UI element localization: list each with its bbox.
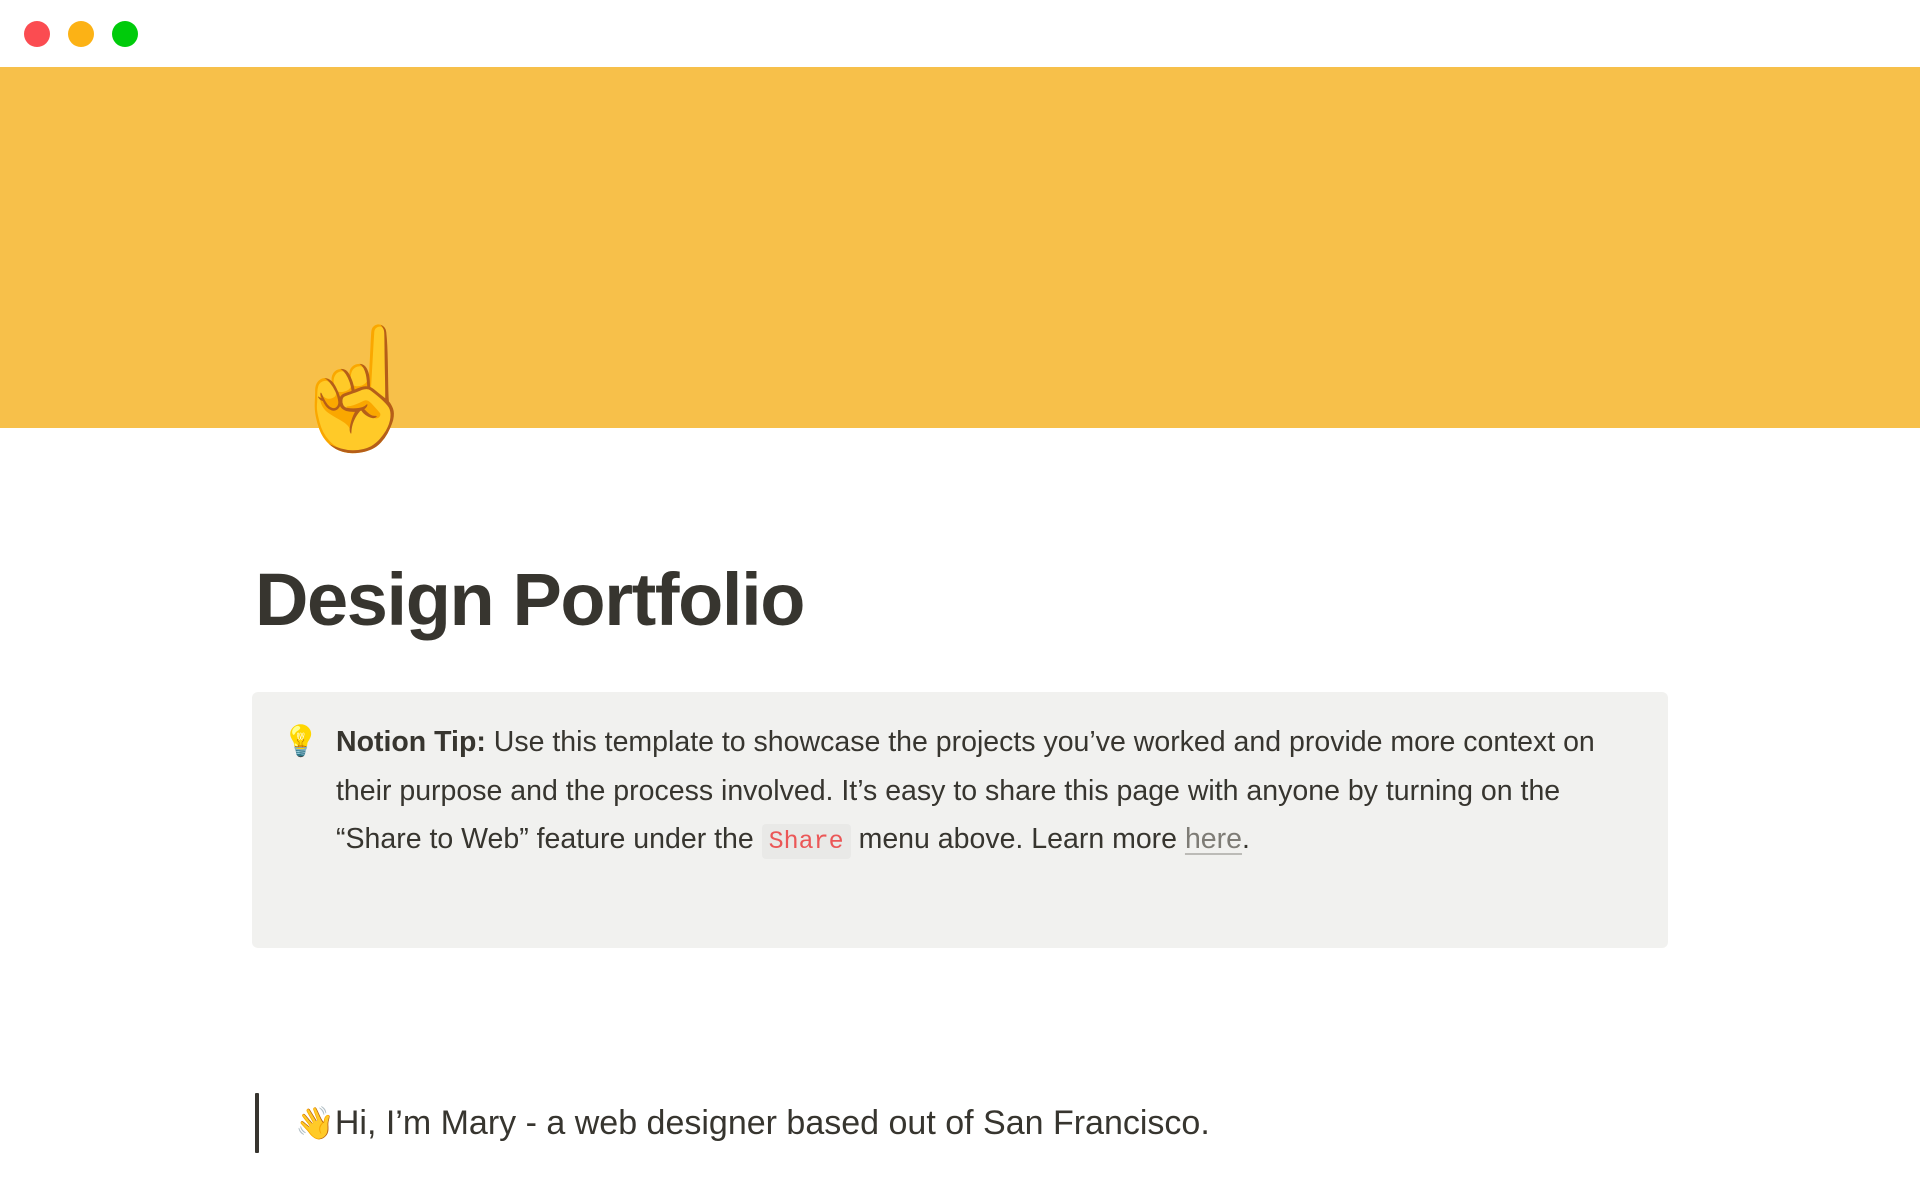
quote-text[interactable]: 👋Hi, I’m Mary - a web designer based out… bbox=[259, 1093, 1675, 1153]
index-pointing-up-icon[interactable]: ☝️ bbox=[283, 330, 407, 454]
intro-quote-block[interactable]: 👋Hi, I’m Mary - a web designer based out… bbox=[255, 1093, 1675, 1153]
page-title[interactable]: Design Portfolio bbox=[255, 560, 1675, 640]
share-code-chip[interactable]: Share bbox=[762, 824, 851, 859]
light-bulb-icon[interactable]: 💡 bbox=[282, 718, 330, 766]
maximize-button[interactable] bbox=[112, 21, 138, 47]
page-body: Design Portfolio bbox=[255, 560, 1675, 640]
close-button[interactable] bbox=[24, 21, 50, 47]
quote-sentence: Hi, I’m Mary - a web designer based out … bbox=[335, 1104, 1210, 1142]
window-titlebar bbox=[0, 0, 1920, 67]
here-link[interactable]: here bbox=[1185, 823, 1242, 855]
waving-hand-icon: 👋 bbox=[295, 1105, 335, 1141]
notion-tip-callout[interactable]: 💡 Notion Tip: Use this template to showc… bbox=[252, 692, 1668, 948]
minimize-button[interactable] bbox=[68, 21, 94, 47]
callout-body-3: . bbox=[1242, 823, 1250, 855]
window-controls bbox=[24, 21, 138, 47]
callout-body-2: menu above. Learn more bbox=[851, 823, 1185, 855]
app-window: ☝️ Design Portfolio 💡 Notion Tip: Use th… bbox=[0, 0, 1920, 1200]
callout-text: Notion Tip: Use this template to showcas… bbox=[330, 718, 1638, 867]
callout-label: Notion Tip: bbox=[336, 726, 486, 758]
